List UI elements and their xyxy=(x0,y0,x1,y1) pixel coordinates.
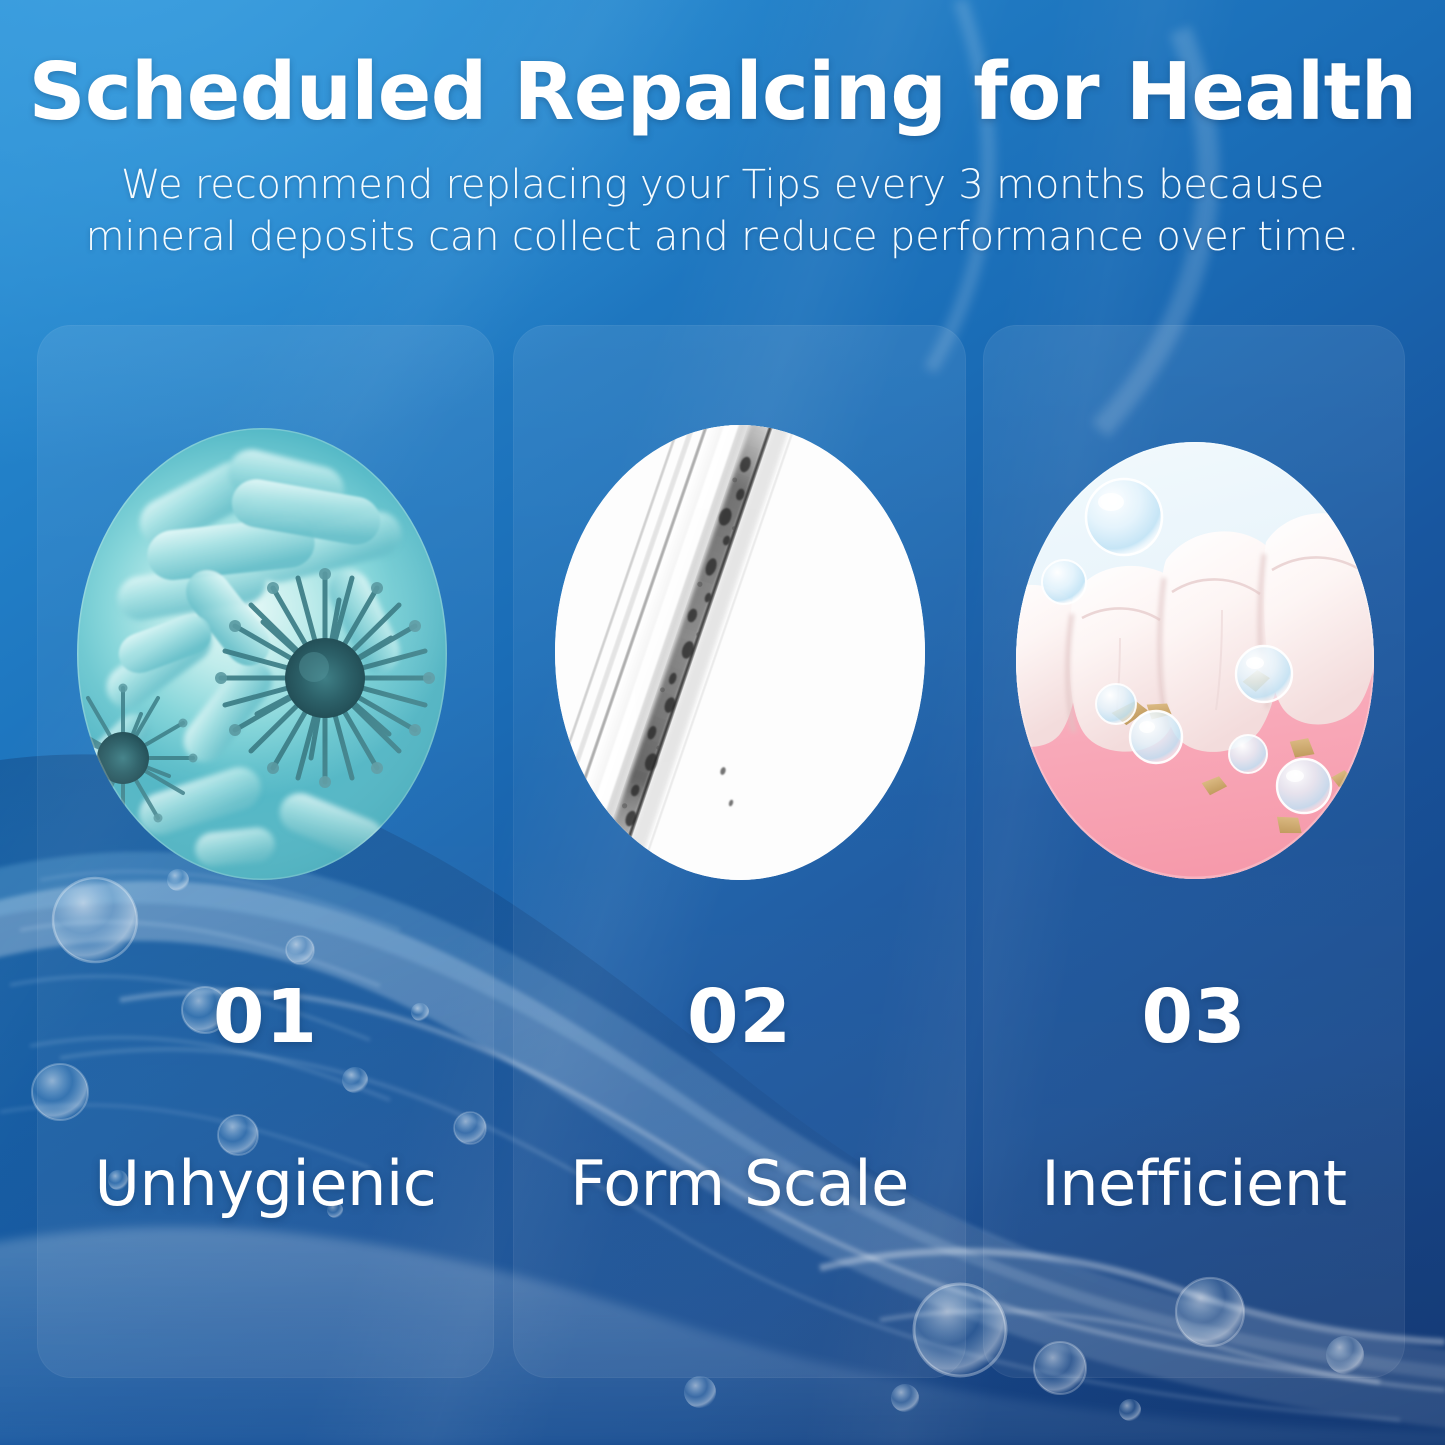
header: Scheduled Repalcing for Health We recomm… xyxy=(0,0,1445,263)
bacteria-microscope-photo xyxy=(77,428,447,880)
card-caption: Inefficient xyxy=(983,1153,1405,1215)
card-inefficient[interactable]: 03 Inefficient xyxy=(983,325,1405,1378)
card-unhygienic[interactable]: 01 Unhygienic xyxy=(37,325,494,1378)
page-title: Scheduled Repalcing for Health xyxy=(0,0,1445,133)
subtitle-line-2: mineral deposits can collect and reduce … xyxy=(86,214,1360,260)
card-form-scale[interactable]: 02 Form Scale xyxy=(513,325,966,1378)
teeth-gums-debris-illustration xyxy=(1016,442,1374,879)
feature-cards: 01 Unhygienic xyxy=(0,325,1445,1380)
card-number: 01 xyxy=(37,980,494,1054)
subtitle-line-1: We recommend replacing your Tips every 3… xyxy=(121,162,1324,208)
card-caption: Form Scale xyxy=(513,1153,966,1215)
scaled-tube-photo xyxy=(555,425,925,880)
page-subtitle: We recommend replacing your Tips every 3… xyxy=(0,133,1445,263)
card-number: 03 xyxy=(983,980,1405,1054)
card-number: 02 xyxy=(513,980,966,1054)
infographic-canvas: Scheduled Repalcing for Health We recomm… xyxy=(0,0,1445,1445)
card-caption: Unhygienic xyxy=(37,1153,494,1215)
